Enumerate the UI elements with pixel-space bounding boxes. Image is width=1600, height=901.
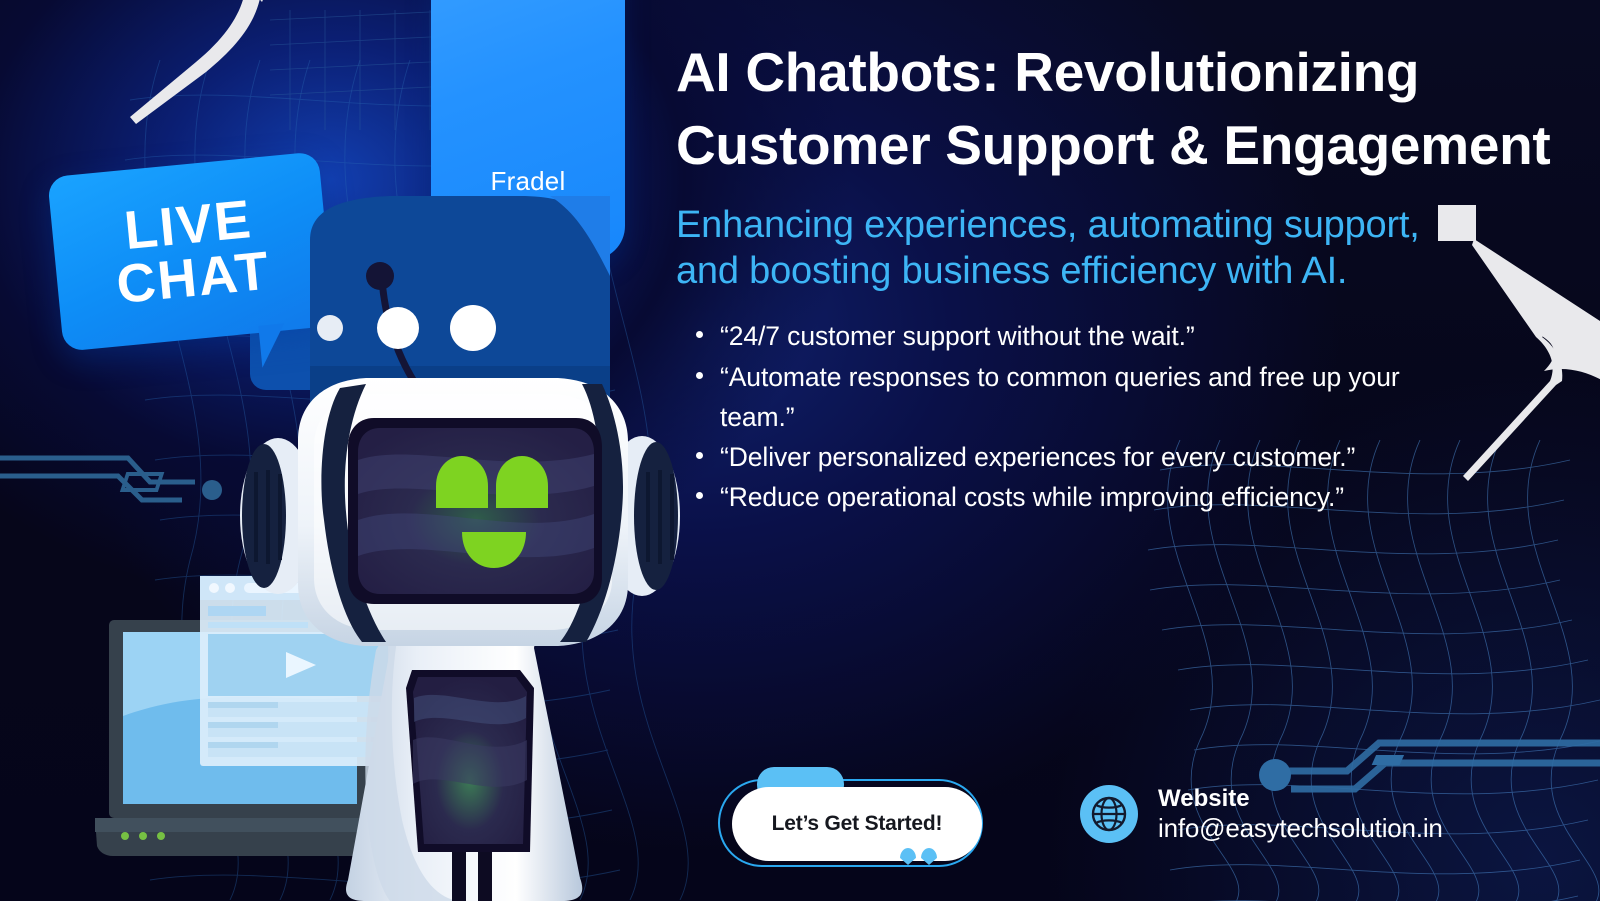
page-subtitle: Enhancing experiences, automating suppor… xyxy=(676,203,1466,294)
poster-canvas: Fradel and Spies xyxy=(0,0,1600,901)
contact-email[interactable]: info@easytechsolution.in xyxy=(1158,813,1443,843)
list-item: “24/7 customer support without the wait.… xyxy=(676,316,1436,356)
get-started-button[interactable]: Let’s Get Started! xyxy=(732,787,982,861)
list-item: “Automate responses to common queries an… xyxy=(676,357,1436,438)
page-title: AI Chatbots: Revolutionizing Customer Su… xyxy=(676,36,1600,181)
list-item: “Deliver personalized experiences for ev… xyxy=(676,437,1436,477)
bullet-dot-icon xyxy=(696,492,703,499)
list-item-label: “24/7 customer support without the wait.… xyxy=(720,321,1195,351)
robot-hood-dot-left xyxy=(377,307,419,349)
list-item: “Reduce operational costs while improvin… xyxy=(676,477,1436,517)
bullet-dot-icon xyxy=(696,372,703,379)
cta-area: Let’s Get Started! xyxy=(718,767,998,872)
list-item-label: “Reduce operational costs while improvin… xyxy=(720,482,1344,512)
content-column: AI Chatbots: Revolutionizing Customer Su… xyxy=(676,0,1600,901)
contact-block: Website info@easytechsolution.in xyxy=(1080,785,1443,843)
robot-hood-dot-right xyxy=(450,305,496,351)
decorative-swoosh xyxy=(110,0,400,134)
robot-head xyxy=(298,378,628,646)
benefits-list: “24/7 customer support without the wait.… xyxy=(676,316,1436,517)
globe-icon xyxy=(1080,785,1138,843)
bullet-dot-icon xyxy=(696,452,703,459)
list-item-label: “Deliver personalized experiences for ev… xyxy=(720,442,1355,472)
contact-label: Website xyxy=(1158,785,1443,813)
bullet-dot-icon xyxy=(696,331,703,338)
get-started-button-label: Let’s Get Started! xyxy=(772,812,943,836)
robot-illustration xyxy=(190,180,730,901)
quote-marks-icon xyxy=(900,848,937,865)
list-item-label: “Automate responses to common queries an… xyxy=(720,362,1400,432)
